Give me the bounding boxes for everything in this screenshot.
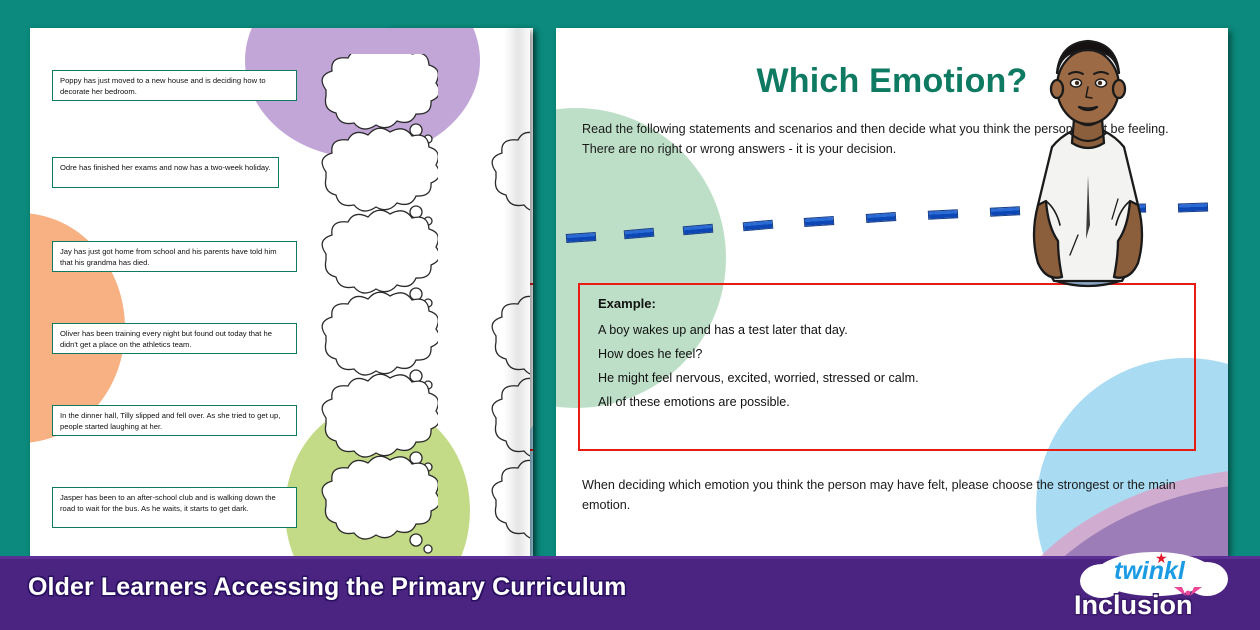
page-fold-shadow	[504, 28, 530, 556]
scenario-box-1[interactable]: Poppy has just moved to a new house and …	[52, 70, 297, 101]
dash-segment	[1178, 202, 1208, 212]
bow-icon	[1173, 586, 1203, 600]
scenario-box-6[interactable]: Jasper has been to an after-school club …	[52, 487, 297, 528]
scenario-box-4[interactable]: Oliver has been training every night but…	[52, 323, 297, 354]
closing-paragraph: When deciding which emotion you think th…	[582, 476, 1182, 515]
twinkl-inclusion-logo[interactable]: twinkl ★ Inclusion	[1058, 546, 1238, 626]
example-line-1: A boy wakes up and has a test later that…	[598, 323, 1194, 337]
dash-segment	[866, 212, 897, 223]
scenario-box-3[interactable]: Jay has just got home from school and hi…	[52, 241, 297, 272]
dash-segment	[624, 228, 655, 240]
scenario-box-5[interactable]: In the dinner hall, Tilly slipped and fe…	[52, 405, 297, 436]
right-page-sheet[interactable]: Which Emotion? Read the following statem…	[556, 28, 1228, 556]
dash-segment	[683, 224, 714, 236]
dash-segment	[743, 220, 774, 232]
left-page-sheet[interactable]: Poppy has just moved to a new house and …	[30, 28, 530, 556]
thought-bubble-6	[322, 456, 438, 553]
thought-bubbles-svg	[308, 54, 438, 554]
example-line-3: He might feel nervous, excited, worried,…	[598, 371, 1194, 385]
thought-bubble-column-1	[308, 54, 498, 556]
dash-segment	[566, 232, 597, 243]
dash-segment	[928, 209, 958, 220]
boy-illustration	[1000, 29, 1176, 321]
star-icon: ★	[1155, 552, 1167, 564]
example-line-4: All of these emotions are possible.	[598, 395, 1194, 409]
twinkl-wordmark: twinkl	[1114, 557, 1185, 586]
scenario-box-2[interactable]: Odre has finished her exams and now has …	[52, 157, 279, 188]
banner-title: Older Learners Accessing the Primary Cur…	[28, 573, 626, 602]
example-line-2: How does he feel?	[598, 347, 1194, 361]
dash-segment	[804, 216, 835, 227]
